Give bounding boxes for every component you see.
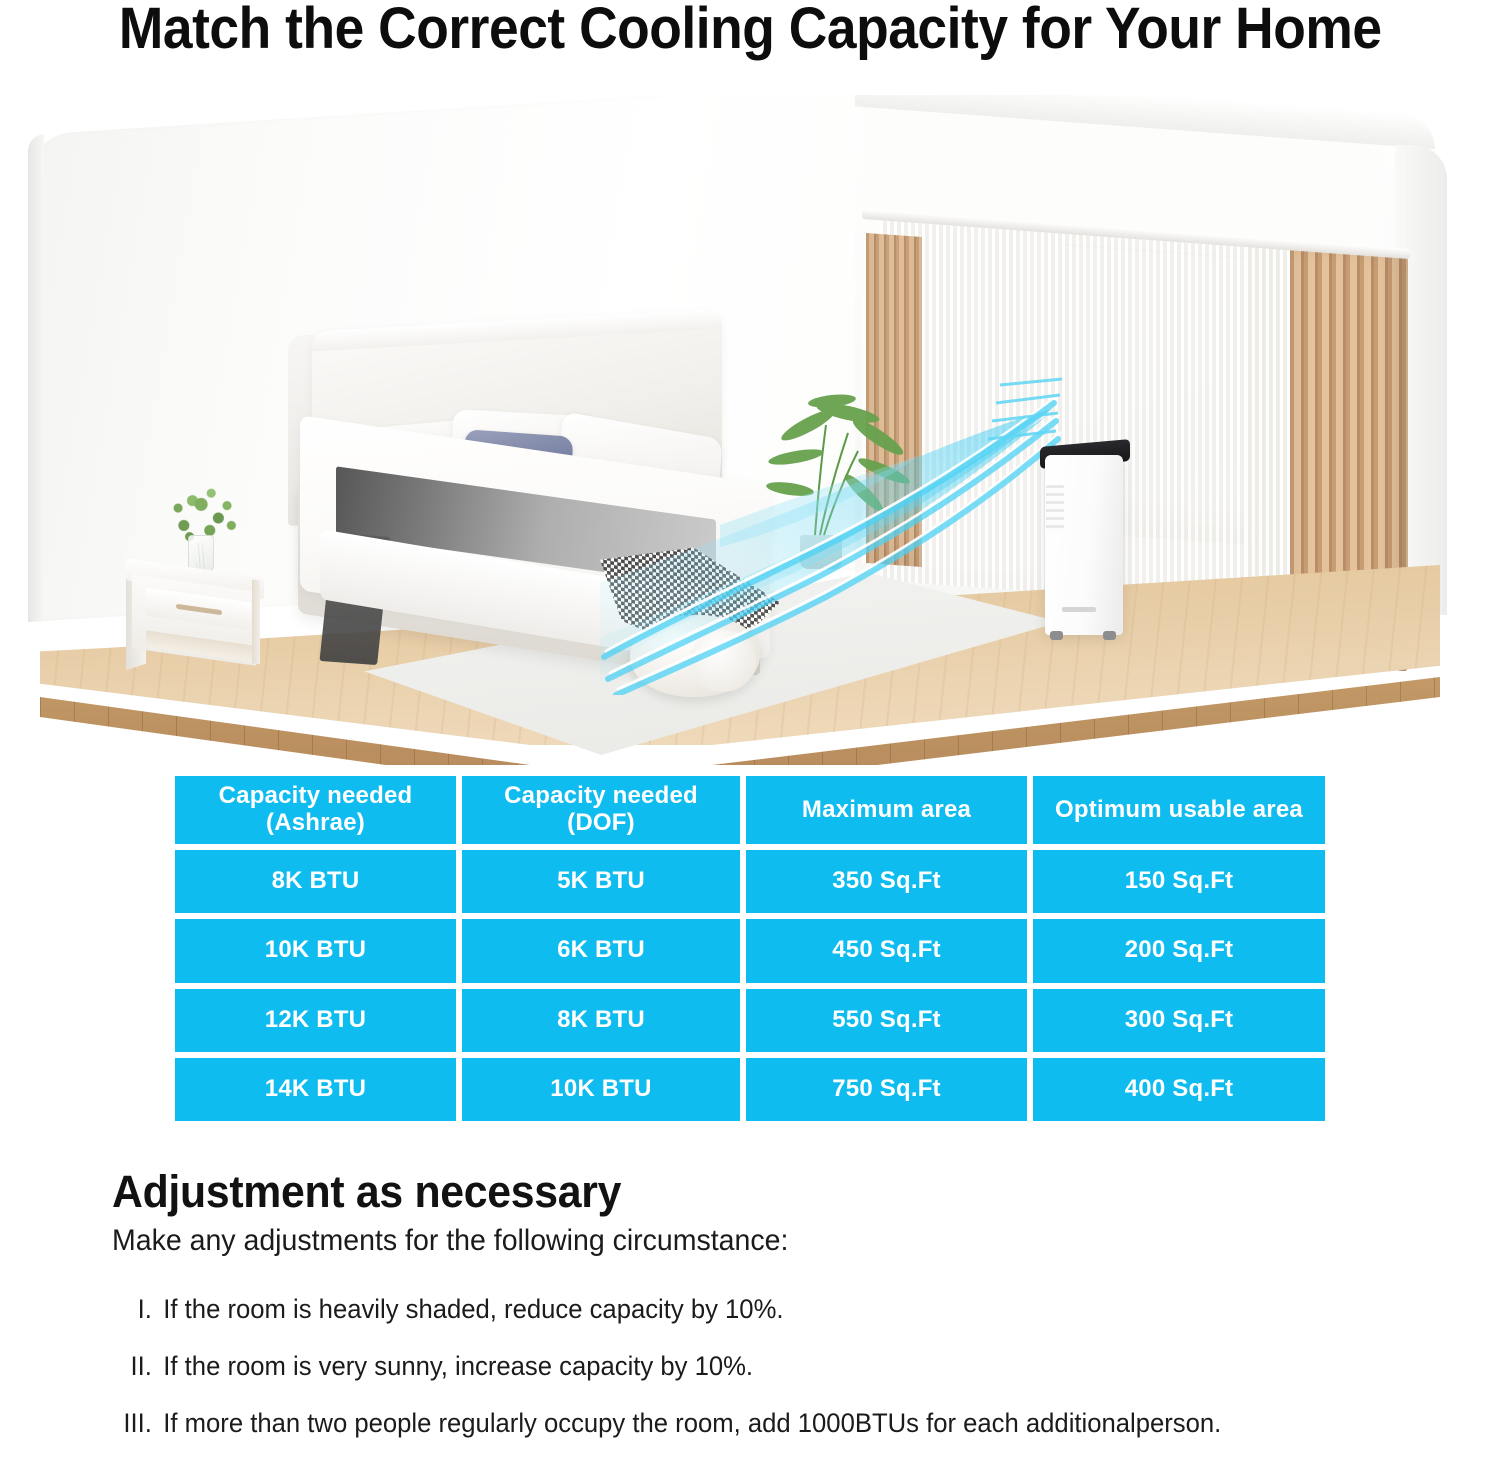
air-conditioner-caster-right [1103, 631, 1116, 640]
nightstand-leg [252, 579, 260, 664]
adjustment-list: I. If the room is heavily shaded, reduce… [112, 1293, 1472, 1440]
table-row: 12K BTU 8K BTU 550 Sq.Ft 300 Sq.Ft [175, 989, 1325, 1052]
cell-capacity-ashrae: 10K BTU [175, 919, 456, 982]
air-conditioner-vent [1046, 485, 1064, 533]
left-wall-edge [28, 134, 44, 622]
list-item-text: If the room is very sunny, increase capa… [163, 1350, 1404, 1382]
cell-capacity-ashrae: 12K BTU [175, 989, 456, 1052]
cell-capacity-dof: 6K BTU [462, 919, 740, 982]
list-item-numeral: II. [112, 1350, 163, 1382]
cell-capacity-dof: 5K BTU [462, 850, 740, 913]
list-item: III. If more than two people regularly o… [112, 1407, 1404, 1439]
cell-capacity-dof: 8K BTU [462, 989, 740, 1052]
column-header-capacity-ashrae: Capacity needed(Ashrae) [175, 776, 456, 844]
air-conditioner-caster-left [1050, 631, 1063, 640]
list-item-text: If more than two people regularly occupy… [163, 1407, 1404, 1439]
column-header-optimum-usable-area: Optimum usable area [1033, 776, 1325, 844]
list-item-text: If the room is heavily shaded, reduce ca… [163, 1293, 1404, 1325]
room-illustration [0, 95, 1500, 775]
adjustment-heading: Adjustment as necessary [112, 1168, 1404, 1217]
list-item: II. If the room is very sunny, increase … [112, 1350, 1404, 1382]
column-header-capacity-dof: Capacity needed(DOF) [462, 776, 740, 844]
list-item-numeral: I. [112, 1293, 163, 1325]
table-row: 10K BTU 6K BTU 450 Sq.Ft 200 Sq.Ft [175, 919, 1325, 982]
table-header-row: Capacity needed(Ashrae) Capacity needed(… [175, 776, 1325, 844]
cell-capacity-dof: 10K BTU [462, 1058, 740, 1121]
cell-optimum-usable-area: 200 Sq.Ft [1033, 919, 1325, 982]
page-header: Match the Correct Cooling Capacity for Y… [0, 0, 1500, 66]
cell-maximum-area: 450 Sq.Ft [746, 919, 1027, 982]
list-item-numeral: III. [112, 1407, 163, 1439]
cell-capacity-ashrae: 14K BTU [175, 1058, 456, 1121]
column-header-maximum-area: Maximum area [746, 776, 1027, 844]
cell-optimum-usable-area: 300 Sq.Ft [1033, 989, 1325, 1052]
capacity-table: Capacity needed(Ashrae) Capacity needed(… [175, 776, 1325, 1121]
cell-maximum-area: 750 Sq.Ft [746, 1058, 1027, 1121]
cell-optimum-usable-area: 150 Sq.Ft [1033, 850, 1325, 913]
table-row: 14K BTU 10K BTU 750 Sq.Ft 400 Sq.Ft [175, 1058, 1325, 1121]
cell-maximum-area: 550 Sq.Ft [746, 989, 1027, 1052]
cell-capacity-ashrae: 8K BTU [175, 850, 456, 913]
adjustment-subheading: Make any adjustments for the following c… [112, 1223, 1404, 1259]
list-item: I. If the room is heavily shaded, reduce… [112, 1293, 1404, 1325]
table-row: 8K BTU 5K BTU 350 Sq.Ft 150 Sq.Ft [175, 850, 1325, 913]
cell-maximum-area: 350 Sq.Ft [746, 850, 1027, 913]
cell-optimum-usable-area: 400 Sq.Ft [1033, 1058, 1325, 1121]
adjustment-section: Adjustment as necessary Make any adjustm… [112, 1168, 1472, 1465]
page-title: Match the Correct Cooling Capacity for Y… [119, 0, 1382, 58]
air-conditioner-logo [1062, 607, 1096, 612]
